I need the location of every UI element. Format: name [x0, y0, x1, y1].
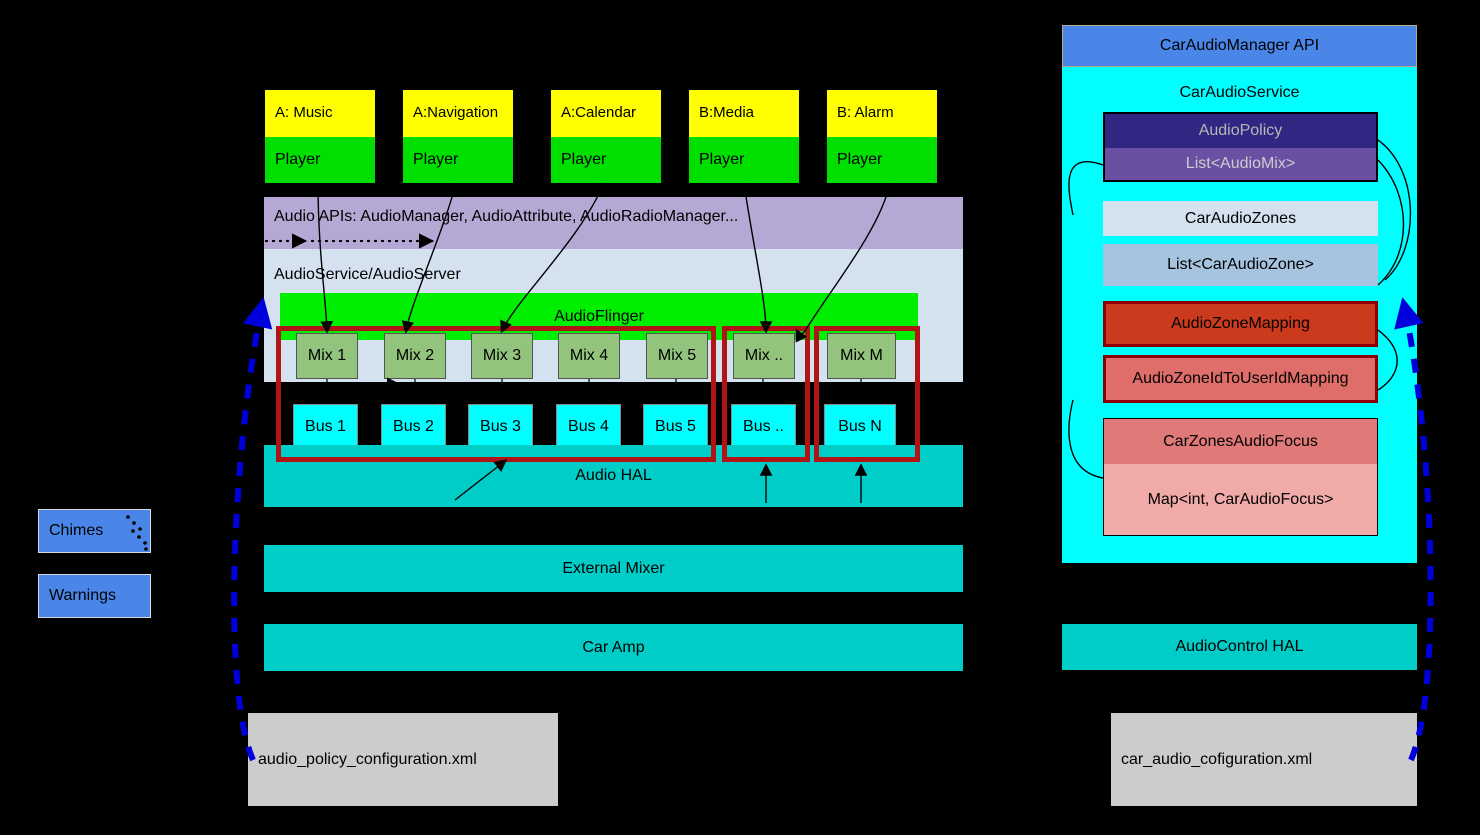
focus-map-box: Map<int, CarAudioFocus>	[1104, 464, 1377, 535]
car-audio-configuration-xml-box: car_audio_cofiguration.xml	[1111, 713, 1417, 806]
audio-zone-mapping-box: AudioZoneMapping	[1103, 301, 1378, 347]
audio-policy-configuration-xml-box: audio_policy_configuration.xml	[248, 713, 558, 806]
app-player-0: Player	[265, 137, 375, 183]
audio-mix-list-box: List<AudioMix>	[1105, 148, 1376, 180]
car-audio-service-title: CarAudioService	[1062, 80, 1417, 106]
external-mixer-box: External Mixer	[264, 545, 963, 592]
audio-service-label: AudioService/AudioServer	[264, 263, 664, 287]
chimes-box: Chimes	[38, 509, 151, 553]
zone-group-border-primary	[276, 326, 716, 462]
app-name-4: B: Alarm	[827, 90, 937, 137]
app-name-1: A:Navigation	[403, 90, 513, 137]
app-name-3: B:Media	[689, 90, 799, 137]
zone-group-border-middle	[722, 326, 810, 462]
app-name-2: A:Calendar	[551, 90, 661, 137]
car-audio-manager-api-box: CarAudioManager API	[1062, 25, 1417, 67]
audio-zone-id-user-mapping-box: AudioZoneIdToUserIdMapping	[1103, 355, 1378, 403]
app-name-0: A: Music	[265, 90, 375, 137]
warnings-box: Warnings	[38, 574, 151, 618]
audio-apis-band: Audio APIs: AudioManager, AudioAttribute…	[264, 197, 963, 249]
audio-policy-box: AudioPolicy	[1105, 114, 1376, 148]
car-audio-zones-box: CarAudioZones	[1103, 201, 1378, 236]
app-player-2: Player	[551, 137, 661, 183]
app-player-1: Player	[403, 137, 513, 183]
audio-control-hal-box: AudioControl HAL	[1062, 624, 1417, 670]
car-amp-box: Car Amp	[264, 624, 963, 671]
car-zones-audio-focus-box: CarZonesAudioFocus	[1104, 419, 1377, 464]
car-audio-zone-list-box: List<CarAudioZone>	[1103, 244, 1378, 286]
app-player-3: Player	[689, 137, 799, 183]
zone-group-border-last	[814, 326, 920, 462]
diagram-canvas: A: Music Player A:Navigation Player A:Ca…	[0, 0, 1480, 835]
app-player-4: Player	[827, 137, 937, 183]
